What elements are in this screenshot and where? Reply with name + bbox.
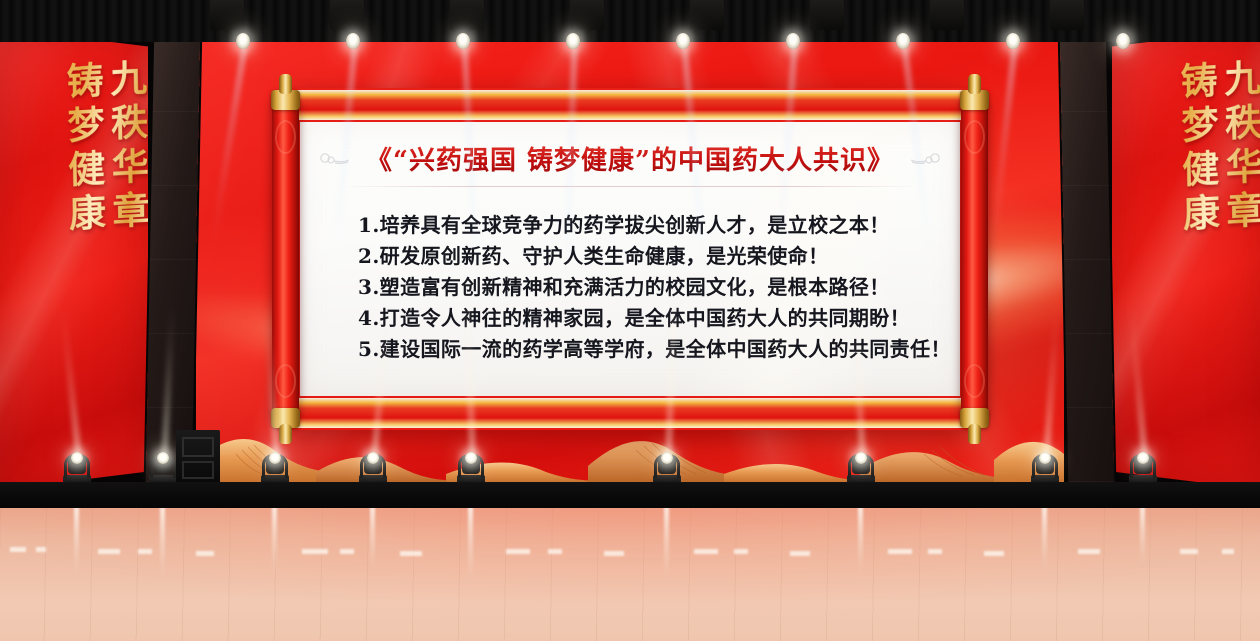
ceiling-spotlight <box>896 33 910 49</box>
banner-line-1: 九秩华章 <box>1217 58 1260 236</box>
scroll-top-band <box>290 90 970 120</box>
floor-reflection <box>858 505 863 575</box>
fixture-lens <box>269 452 281 464</box>
floor-reflection <box>272 505 277 577</box>
truss-box <box>570 0 604 30</box>
scroll-roller-left <box>272 74 299 444</box>
floor-glint <box>888 549 912 554</box>
truss-box <box>330 0 364 30</box>
floor-glint <box>138 549 152 554</box>
floor-glint <box>1222 549 1234 554</box>
scroll-roller-right <box>961 74 988 444</box>
floor-glint <box>506 549 530 554</box>
moving-head-light <box>148 450 178 486</box>
ceiling-spotlight <box>676 33 690 49</box>
truss-box <box>1050 0 1084 30</box>
main-led-screen: 《“兴药强国 铸梦健康”的中国药大人共识》 1.培养具有 <box>196 32 1064 482</box>
stage-gap-column-right <box>1060 30 1115 482</box>
floor-reflection <box>468 505 473 583</box>
scroll-bottom-band <box>290 398 970 428</box>
floor-glint <box>1180 549 1198 554</box>
floor-reflection <box>1042 505 1047 571</box>
side-banner-left-text: 九秩华章 铸梦健康 <box>0 58 150 242</box>
floor-glint <box>1078 549 1100 554</box>
floor-glint <box>984 551 1004 556</box>
roller-knob-bottom <box>968 424 981 444</box>
title-divider <box>342 186 918 187</box>
moving-head-light <box>358 450 388 486</box>
moving-head-light <box>1128 450 1158 486</box>
stage-photo: 《“兴药强国 铸梦健康”的中国药大人共识》 1.培养具有 <box>0 0 1260 641</box>
fixture-lens <box>1039 452 1051 464</box>
truss-box <box>450 0 484 30</box>
stage-gap-column-left <box>146 30 201 482</box>
truss-box <box>690 0 724 30</box>
roller-emblem <box>964 364 985 398</box>
moving-head-light <box>456 450 486 486</box>
ceiling-spotlight <box>456 33 470 49</box>
truss-box <box>210 0 244 30</box>
fixture-lens <box>855 452 867 464</box>
roller-knob-bottom <box>279 424 292 444</box>
moving-head-light <box>1030 450 1060 486</box>
floor-glint <box>10 547 26 552</box>
ceiling-spotlight <box>566 33 580 49</box>
fixture-lens <box>367 452 379 464</box>
scroll-paper: 《“兴药强国 铸梦健康”的中国药大人共识》 1.培养具有 <box>300 122 960 396</box>
list-item: 3.塑造富有创新精神和充满活力的校园文化，是根本路径！ <box>352 272 908 303</box>
hanging-scroll: 《“兴药强国 铸梦健康”的中国药大人共识》 1.培养具有 <box>262 88 998 430</box>
floor-glint <box>928 549 942 554</box>
roller-emblem <box>964 120 985 154</box>
fixture-lens <box>661 452 673 464</box>
moving-head-light <box>62 450 92 486</box>
floor-reflection <box>370 505 375 571</box>
floor-glint <box>604 551 624 556</box>
scroll-title-row: 《“兴药强国 铸梦健康”的中国药大人共识》 <box>300 140 960 177</box>
floor-glint <box>400 551 422 556</box>
floor-glint <box>734 549 748 554</box>
floor-light-wash <box>0 505 1260 641</box>
floor-glint <box>548 549 562 554</box>
scroll-body: 《“兴药强国 铸梦健康”的中国药大人共识》 1.培养具有 <box>290 88 970 430</box>
floor-glint <box>340 549 354 554</box>
side-banner-right: 九秩华章 铸梦健康 <box>1112 28 1260 490</box>
moving-head-light <box>652 450 682 486</box>
scroll-title: 《“兴药强国 铸梦健康”的中国药大人共识》 <box>366 140 894 177</box>
moving-head-light <box>260 450 290 486</box>
floor-glint <box>790 551 810 556</box>
roller-emblem <box>275 364 296 398</box>
stage-floor <box>0 505 1260 641</box>
roller-rod <box>272 94 299 424</box>
roller-knob-top <box>279 74 292 94</box>
truss-box <box>810 0 844 30</box>
ceiling-spotlight <box>1006 33 1020 49</box>
banner-line-2: 铸梦健康 <box>60 60 107 238</box>
fixture-lens <box>157 452 169 464</box>
floor-glint <box>302 549 328 554</box>
floor-glint <box>694 549 718 554</box>
banner-line-1: 九秩华章 <box>103 58 150 236</box>
floor-reflection <box>664 505 669 581</box>
roller-rod <box>961 94 988 424</box>
truss-box <box>930 0 964 30</box>
stage-front-edge <box>0 482 1260 508</box>
ceiling-spotlight <box>786 33 800 49</box>
floor-reflection <box>160 505 165 579</box>
speaker-stack <box>176 430 220 486</box>
floor-reflection <box>1140 505 1145 567</box>
side-banner-right-text: 九秩华章 铸梦健康 <box>1110 58 1260 242</box>
ceiling-spotlight <box>1116 33 1130 49</box>
floor-reflection <box>74 505 79 575</box>
floor-glint <box>36 547 46 552</box>
ceiling-spotlight <box>346 33 360 49</box>
roller-knob-top <box>968 74 981 94</box>
fixture-lens <box>71 452 83 464</box>
roller-emblem <box>275 120 296 154</box>
fixture-lens <box>1137 452 1149 464</box>
list-item: 1.培养具有全球竞争力的药学拔尖创新人才，是立校之本！ <box>352 210 908 241</box>
list-item: 2.研发原创新药、守护人类生命健康，是光荣使命！ <box>352 241 908 272</box>
list-item: 5.建设国际一流的药学高等学府，是全体中国药大人的共同责任！ <box>352 334 908 365</box>
moving-head-light <box>846 450 876 486</box>
consensus-list: 1.培养具有全球竞争力的药学拔尖创新人才，是立校之本！ 2.研发原创新药、守护人… <box>352 210 908 365</box>
list-item: 4.打造令人神往的精神家园，是全体中国药大人的共同期盼！ <box>352 303 908 334</box>
floor-glint <box>98 549 120 554</box>
floor-glint <box>196 551 214 556</box>
ceiling-spotlight <box>236 33 250 49</box>
banner-line-2: 铸梦健康 <box>1174 60 1221 238</box>
fixture-lens <box>465 452 477 464</box>
